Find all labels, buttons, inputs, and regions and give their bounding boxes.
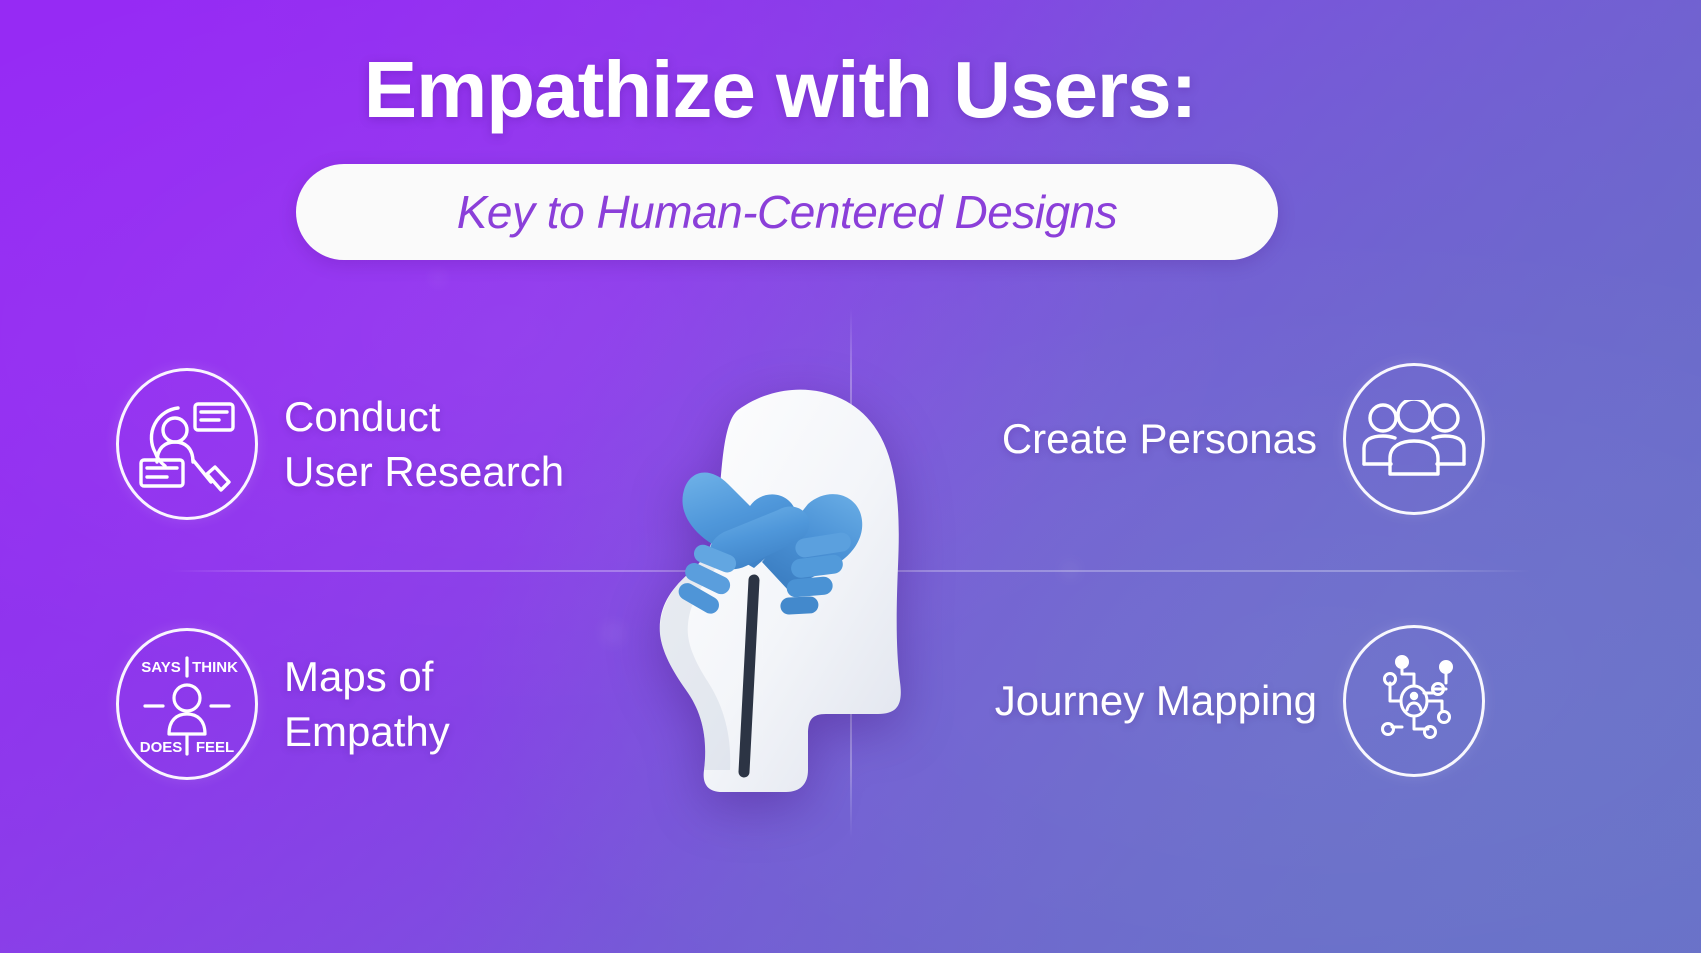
item-create-personas[interactable]: Create Personas xyxy=(945,363,1485,515)
item-label: Create Personas xyxy=(1002,411,1317,466)
item-conduct-user-research[interactable]: Conduct User Research xyxy=(116,368,564,520)
empathy-label-think: THINK xyxy=(192,659,238,676)
empathy-map-icon: SAYS THINK DOES FEEL xyxy=(116,628,258,780)
journey-network-icon xyxy=(1343,625,1485,777)
item-label: Conduct User Research xyxy=(284,389,564,500)
item-maps-of-empathy[interactable]: SAYS THINK DOES FEEL Maps of Empathy xyxy=(116,628,450,780)
user-research-icon xyxy=(116,368,258,520)
page-title: Empathize with Users: xyxy=(0,48,1560,132)
people-group-icon xyxy=(1343,363,1485,515)
empathy-label-does: DOES xyxy=(140,739,183,756)
item-journey-mapping[interactable]: Journey Mapping xyxy=(945,625,1485,777)
bokeh-dot xyxy=(430,270,446,286)
empathy-label-says: SAYS xyxy=(141,659,180,676)
empathy-label-feel: FEEL xyxy=(196,739,234,756)
subtitle-pill: Key to Human-Centered Designs xyxy=(296,164,1278,260)
subtitle-text: Key to Human-Centered Designs xyxy=(457,185,1118,239)
infographic-poster: Empathize with Users: Key to Human-Cente… xyxy=(0,0,1701,953)
head-with-handshake-heart-illustration xyxy=(612,352,952,812)
item-label: Journey Mapping xyxy=(995,673,1317,728)
item-label: Maps of Empathy xyxy=(284,649,450,760)
